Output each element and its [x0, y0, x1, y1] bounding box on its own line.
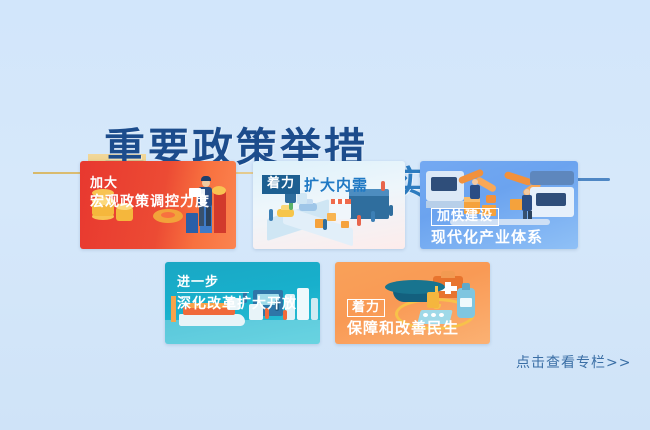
- card-modern-industry-line2: 现代化产业体系: [431, 229, 543, 246]
- card-domestic-demand[interactable]: 着力 扩大内需: [253, 161, 405, 249]
- card-macro-policy[interactable]: 加大 宏观政策调控力度: [80, 161, 236, 249]
- card-modern-industry[interactable]: 加快建设 现代化产业体系: [420, 161, 578, 249]
- card-reform-opening-labels: 进一步 深化改革扩大开放: [177, 271, 297, 312]
- card-reform-opening-line1: 进一步: [177, 276, 219, 290]
- card-reform-opening[interactable]: 进一步 深化改革扩大开放: [165, 262, 320, 344]
- card-reform-opening-rule: [177, 292, 249, 293]
- card-macro-policy-labels: 加大 宏观政策调控力度: [90, 172, 210, 210]
- card-livelihood-line1: 着力: [347, 299, 385, 317]
- card-reform-opening-line2: 深化改革扩大开放: [177, 296, 297, 312]
- card-macro-policy-line1: 加大: [90, 177, 118, 191]
- card-domestic-demand-labels: 着力 扩大内需: [262, 174, 368, 195]
- card-domestic-demand-line2: 扩大内需: [304, 174, 368, 195]
- banner-stage: 重要政策举措 及实施效果: [0, 0, 650, 430]
- card-domestic-demand-line1: 着力: [262, 175, 300, 193]
- title-block: 重要政策举措 及实施效果: [0, 56, 650, 148]
- card-modern-industry-labels: 加快建设 现代化产业体系: [431, 205, 543, 247]
- card-macro-policy-line2: 宏观政策调控力度: [90, 194, 210, 210]
- card-livelihood-labels: 着力 保障和改善民生: [347, 296, 459, 338]
- card-livelihood[interactable]: 着力 保障和改善民生: [335, 262, 490, 344]
- view-column-link[interactable]: 点击查看专栏>>: [516, 352, 631, 372]
- card-modern-industry-line1: 加快建设: [431, 208, 499, 226]
- card-livelihood-line2: 保障和改善民生: [347, 320, 459, 337]
